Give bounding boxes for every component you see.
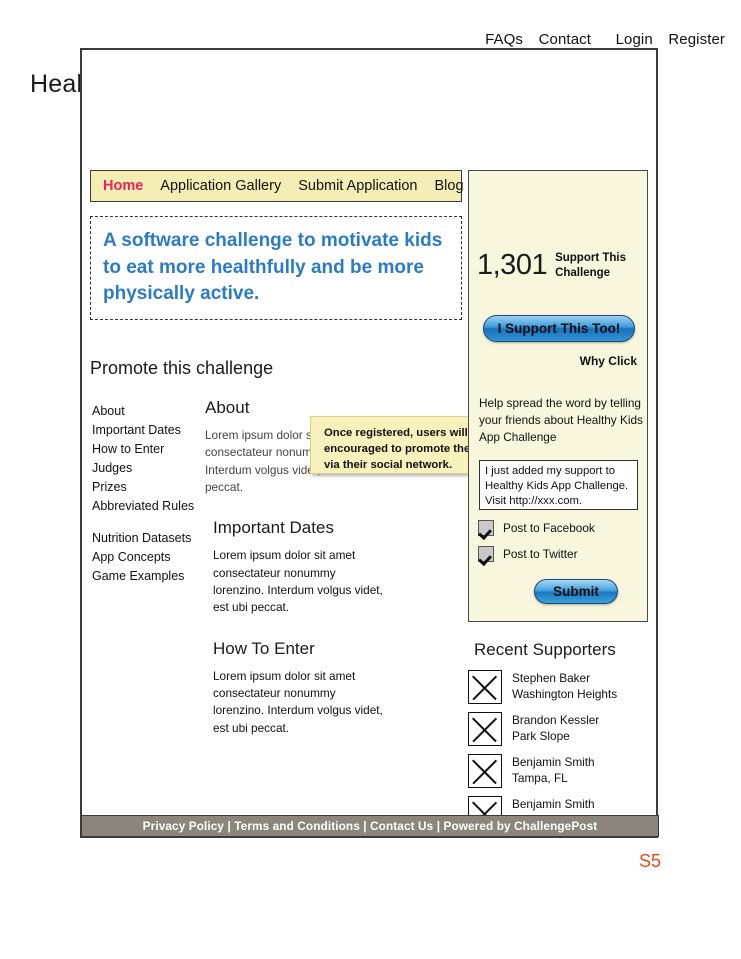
supporter-name: Stephen Baker <box>512 671 617 687</box>
article-heading-how-to-enter: How To Enter <box>213 639 385 659</box>
slide-label: S5 <box>639 851 661 872</box>
spread-word-text: Help spread the word by telling your fri… <box>479 395 644 445</box>
checkbox-row-twitter[interactable]: Post to Twitter <box>478 546 578 562</box>
share-message-input[interactable]: I just added my support to Healthy Kids … <box>479 460 638 510</box>
utility-link-register[interactable]: Register <box>668 31 725 48</box>
support-this-too-button[interactable]: I Support This Too! <box>483 315 635 342</box>
section-nav-item-prizes[interactable]: Prizes <box>92 478 202 497</box>
support-counter-label: Support This Challenge <box>555 251 642 279</box>
section-nav-group-primary: About Important Dates How to Enter Judge… <box>92 402 202 516</box>
supporter-info: Benjamin Smith Tampa, FL <box>512 755 595 786</box>
support-counter-value: 1,301 <box>477 249 547 282</box>
recent-supporters-title: Recent Supporters <box>474 640 658 660</box>
submit-button[interactable]: Submit <box>534 579 618 604</box>
supporter-location: Park Slope <box>512 729 599 745</box>
hero-banner: A software challenge to motivate kids to… <box>90 216 462 320</box>
why-click-link[interactable]: Why Click <box>580 354 637 368</box>
primary-nav: Home Application Gallery Submit Applicat… <box>90 170 462 202</box>
promote-heading: Promote this challenge <box>90 358 462 379</box>
hero-tagline: A software challenge to motivate kids to… <box>103 228 449 309</box>
avatar-placeholder-icon <box>468 754 502 788</box>
supporter-name: Benjamin Smith <box>512 755 595 771</box>
section-nav-item-important-dates[interactable]: Important Dates <box>92 421 202 440</box>
supporter-location: Washington Heights <box>512 687 617 703</box>
section-nav-item-how-to-enter[interactable]: How to Enter <box>92 440 202 459</box>
avatar-placeholder-icon <box>468 712 502 746</box>
checkbox-post-to-twitter[interactable] <box>478 546 494 562</box>
list-item[interactable]: Stephen Baker Washington Heights <box>468 670 658 704</box>
section-nav-item-judges[interactable]: Judges <box>92 459 202 478</box>
article-section-how-to-enter: How To Enter Lorem ipsum dolor sit amet … <box>205 639 385 737</box>
article-heading-about: About <box>205 398 385 418</box>
section-nav-item-abbreviated-rules[interactable]: Abbreviated Rules <box>92 497 202 516</box>
checkbox-label-facebook: Post to Facebook <box>503 521 595 535</box>
nav-item-application-gallery[interactable]: Application Gallery <box>160 178 281 194</box>
avatar-placeholder-icon <box>468 670 502 704</box>
supporter-name: Benjamin Smith <box>512 797 595 813</box>
supporter-name: Brandon Kessler <box>512 713 599 729</box>
section-nav-item-game-examples[interactable]: Game Examples <box>92 567 202 586</box>
utility-link-login[interactable]: Login <box>616 31 653 48</box>
article-body-how-to-enter: Lorem ipsum dolor sit amet consectateur … <box>213 668 385 737</box>
article-body-important-dates: Lorem ipsum dolor sit amet consectateur … <box>213 547 385 616</box>
support-counter: 1,301 Support This Challenge <box>477 249 642 282</box>
utility-link-contact[interactable]: Contact <box>539 31 591 48</box>
supporter-info: Stephen Baker Washington Heights <box>512 671 617 702</box>
utility-link-faqs[interactable]: FAQs <box>485 31 523 48</box>
section-nav-item-nutrition-datasets[interactable]: Nutrition Datasets <box>92 529 202 548</box>
section-nav-item-about[interactable]: About <box>92 402 202 421</box>
section-nav-group-resources: Nutrition Datasets App Concepts Game Exa… <box>92 529 202 586</box>
utility-nav: FAQs Contact Login Register <box>485 31 725 48</box>
checkbox-row-facebook[interactable]: Post to Facebook <box>478 520 595 536</box>
page-frame: Home Application Gallery Submit Applicat… <box>80 48 658 838</box>
section-nav: About Important Dates How to Enter Judge… <box>92 402 202 599</box>
nav-item-submit-application[interactable]: Submit Application <box>298 178 417 194</box>
recent-supporters: Recent Supporters Stephen Baker Washingt… <box>468 640 658 838</box>
list-item[interactable]: Brandon Kessler Park Slope <box>468 712 658 746</box>
article-heading-important-dates: Important Dates <box>213 518 385 538</box>
supporter-info: Brandon Kessler Park Slope <box>512 713 599 744</box>
checkbox-post-to-facebook[interactable] <box>478 520 494 536</box>
nav-item-home[interactable]: Home <box>103 178 143 194</box>
article-section-important-dates: Important Dates Lorem ipsum dolor sit am… <box>205 518 385 616</box>
section-nav-item-app-concepts[interactable]: App Concepts <box>92 548 202 567</box>
support-panel: 1,301 Support This Challenge I Support T… <box>468 170 648 622</box>
nav-item-blog[interactable]: Blog <box>435 178 464 194</box>
footer-bar[interactable]: Privacy Policy | Terms and Conditions | … <box>81 815 659 837</box>
checkbox-label-twitter: Post to Twitter <box>503 547 578 561</box>
list-item[interactable]: Benjamin Smith Tampa, FL <box>468 754 658 788</box>
supporter-location: Tampa, FL <box>512 771 595 787</box>
